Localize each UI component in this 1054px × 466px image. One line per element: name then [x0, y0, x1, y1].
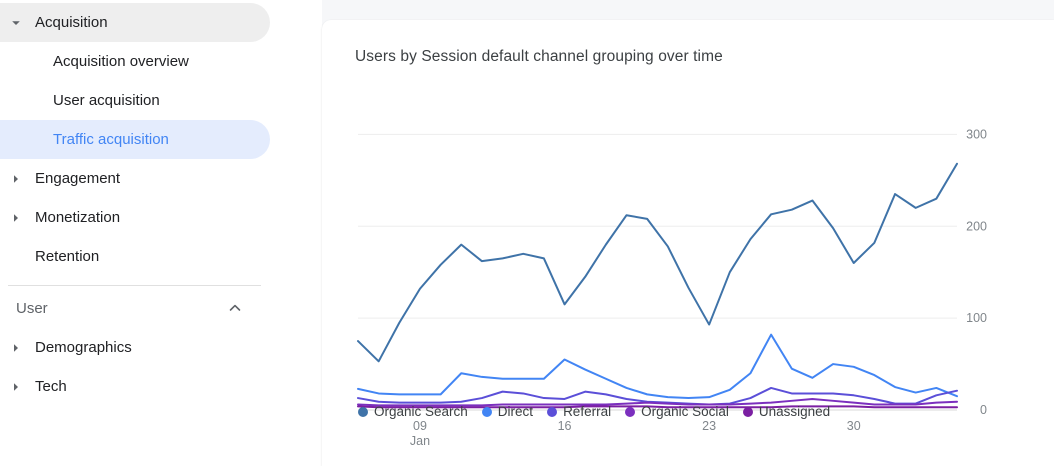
y-axis-tick-label: 100 [966, 311, 987, 325]
sidebar-section-user[interactable]: User [0, 288, 262, 328]
sidebar-item-label: Retention [0, 248, 99, 265]
sidebar-item-monetization[interactable]: Monetization [0, 198, 270, 237]
chevron-up-icon[interactable] [226, 299, 244, 317]
legend-label: Direct [498, 404, 533, 419]
legend-item-organic-search[interactable]: Organic Search [358, 404, 468, 419]
sidebar-item-engagement[interactable]: Engagement [0, 159, 270, 198]
sidebar-item-user-acquisition[interactable]: User acquisition [0, 81, 270, 120]
legend-swatch-icon [625, 407, 635, 417]
legend-item-referral[interactable]: Referral [547, 404, 611, 419]
x-axis-tick-sublabel: Jan [410, 434, 430, 448]
chart-legend: Organic SearchDirectReferralOrganic Soci… [358, 404, 830, 419]
legend-swatch-icon [482, 407, 492, 417]
main-content: Users by Session default channel groupin… [322, 0, 1054, 466]
x-axis-tick-label: 23 [702, 419, 716, 433]
sidebar: AcquisitionAcquisition overviewUser acqu… [0, 0, 322, 466]
x-axis-tick-label: 16 [558, 419, 572, 433]
card-title: Users by Session default channel groupin… [355, 48, 723, 66]
x-axis-tick-label: 09 [413, 419, 427, 433]
app-root: AcquisitionAcquisition overviewUser acqu… [0, 0, 1054, 466]
sidebar-section-label: User [16, 300, 48, 317]
caret-right-icon[interactable] [8, 379, 24, 395]
sidebar-item-tech[interactable]: Tech [0, 367, 270, 406]
sidebar-item-demographics[interactable]: Demographics [0, 328, 270, 367]
sidebar-item-acquisition[interactable]: Acquisition [0, 3, 270, 42]
sidebar-item-retention[interactable]: Retention [0, 237, 270, 276]
legend-item-direct[interactable]: Direct [482, 404, 533, 419]
legend-swatch-icon [743, 407, 753, 417]
legend-label: Unassigned [759, 404, 830, 419]
series-line-organic-search [358, 164, 957, 362]
caret-down-icon[interactable] [8, 15, 24, 31]
y-axis-tick-label: 0 [980, 403, 987, 417]
legend-item-organic-social[interactable]: Organic Social [625, 404, 729, 419]
legend-swatch-icon [547, 407, 557, 417]
sidebar-item-label: Acquisition overview [0, 53, 189, 70]
legend-label: Organic Social [641, 404, 729, 419]
series-line-direct [358, 335, 957, 398]
caret-right-icon[interactable] [8, 340, 24, 356]
sidebar-item-traffic-acquisition[interactable]: Traffic acquisition [0, 120, 270, 159]
legend-label: Referral [563, 404, 611, 419]
caret-right-icon[interactable] [8, 210, 24, 226]
sidebar-divider [8, 285, 261, 286]
y-axis-tick-label: 300 [966, 127, 987, 141]
sidebar-item-label: User acquisition [0, 92, 160, 109]
sidebar-item-acquisition-overview[interactable]: Acquisition overview [0, 42, 270, 81]
caret-right-icon[interactable] [8, 171, 24, 187]
sidebar-item-label: Traffic acquisition [0, 131, 169, 148]
chart-card: Users by Session default channel groupin… [322, 20, 1054, 466]
x-axis-tick-label: 30 [847, 419, 861, 433]
legend-swatch-icon [358, 407, 368, 417]
legend-label: Organic Search [374, 404, 468, 419]
legend-item-unassigned[interactable]: Unassigned [743, 404, 830, 419]
sidebar-nav-list: AcquisitionAcquisition overviewUser acqu… [0, 3, 322, 276]
y-axis-tick-label: 200 [966, 219, 987, 233]
sidebar-nav-list-user: DemographicsTech [0, 328, 322, 406]
